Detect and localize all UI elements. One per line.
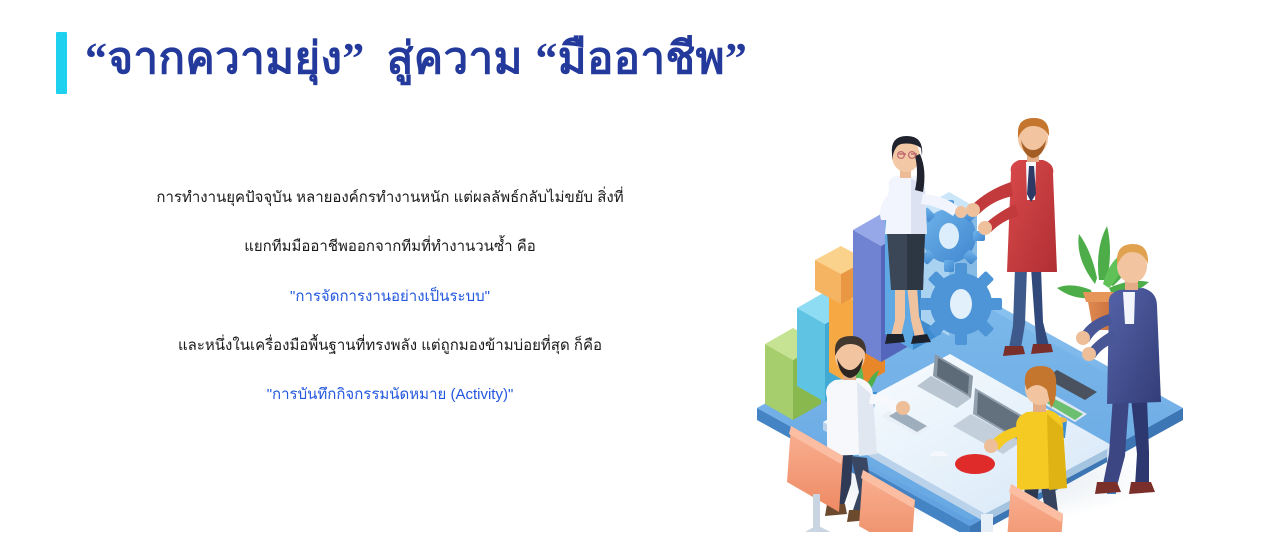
body-line-1: การทำงานยุคปัจจุบัน หลายองค์กรทำงานหนัก … [60,186,720,209]
body-line-3-highlight: "การจัดการงานอย่างเป็นระบบ" [60,285,720,308]
body-line-4: และหนึ่งในเครื่องมือพื้นฐานที่ทรงพลัง แต… [60,334,720,357]
body-line-5-highlight: "การบันทึกกิจกรรมนัดหมาย (Activity)" [60,383,720,406]
body-line-2: แยกทีมมืออาชีพออกจากทีมที่ทำงานวนซ้ำ คือ [60,235,720,258]
title-part-1: จากความยุ่ง [107,34,342,83]
title-middle: สู่ความ [387,34,523,83]
red-mousepad-disc [955,454,995,474]
title-close-quote-2: ” [725,34,747,83]
title-part-2: มืออาชีพ [558,34,725,83]
title-open-quote-1: “ [85,34,107,83]
white-mug [930,451,948,466]
title-block: “จากความยุ่ง”สู่ความ “มืออาชีพ” [56,32,747,94]
page-title: “จากความยุ่ง”สู่ความ “มืออาชีพ” [85,32,747,94]
slide-root: “จากความยุ่ง”สู่ความ “มืออาชีพ” การทำงาน… [0,0,1278,534]
isometric-team-meeting-illustration [735,108,1205,532]
body-copy: การทำงานยุคปัจจุบัน หลายองค์กรทำงานหนัก … [60,186,720,406]
title-close-quote-1: ” [342,34,364,83]
gear-icon-small [920,263,1002,345]
title-open-quote-2: “ [535,34,557,83]
accent-bar-icon [56,32,67,94]
